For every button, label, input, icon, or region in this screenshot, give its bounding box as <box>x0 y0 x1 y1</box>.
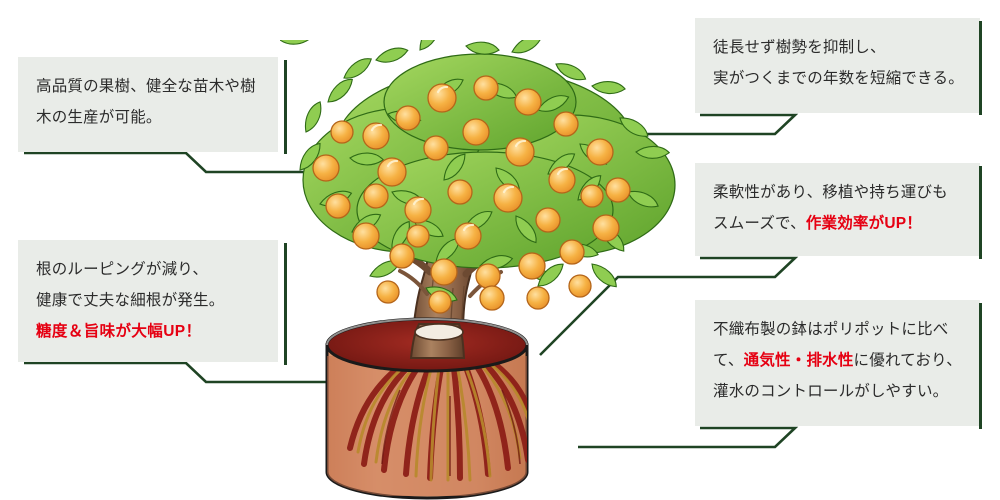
callout-accent-bar <box>979 303 982 429</box>
callout-line: 根のルーピングが減り、 <box>36 254 260 285</box>
callout-line: 柔軟性があり、移植や持ち運びも <box>713 177 962 208</box>
callout-accent-bar <box>979 166 982 259</box>
callout-line: 健康で丈夫な細根が発生。 <box>36 285 260 316</box>
root-mass <box>327 352 538 496</box>
callout-growth-control: 徒長せず樹勢を抑制し、 実がつくまでの年数を短縮できる。 <box>695 18 980 113</box>
callout-line: 実がつくまでの年数を短縮できる。 <box>713 63 962 94</box>
callout-root-looping: 根のルーピングが減り、 健康で丈夫な細根が発生。 糖度＆旨味が大幅UP！ <box>18 240 278 362</box>
tree-canopy <box>280 40 675 313</box>
callout-text: スムーズで、 <box>713 215 806 232</box>
callout-accent-bar <box>284 60 287 154</box>
callout-text-highlight: 通気性・排水性 <box>744 352 854 369</box>
callout-text: て、 <box>713 352 744 369</box>
callout-text-highlight: 作業効率がUP！ <box>806 215 922 232</box>
infographic-canvas: 高品質の果樹、健全な苗木や樹 木の生産が可能。 根のルーピングが減り、 健康で丈… <box>0 0 1000 500</box>
callout-line: スムーズで、作業効率がUP！ <box>713 208 962 239</box>
callout-text: に優れており、 <box>854 352 962 369</box>
callout-accent-bar <box>979 21 982 115</box>
callout-line: 高品質の果樹、健全な苗木や樹 <box>36 71 260 102</box>
callout-accent-bar <box>284 243 287 365</box>
callout-high-quality-production: 高品質の果樹、健全な苗木や樹 木の生産が可能。 <box>18 57 278 152</box>
callout-line: 徒長せず樹勢を抑制し、 <box>713 32 962 63</box>
callout-line-highlight: 糖度＆旨味が大幅UP！ <box>36 316 260 347</box>
callout-fabric-pot-aeration: 不織布製の鉢はポリポットに比べ て、通気性・排水性に優れており、 灌水のコントロ… <box>695 300 980 426</box>
callout-flexible-handling: 柔軟性があり、移植や持ち運びも スムーズで、作業効率がUP！ <box>695 163 980 256</box>
callout-line: 木の生産が可能。 <box>36 102 260 133</box>
fabric-pot-root-ball <box>327 319 538 498</box>
callout-line: 不織布製の鉢はポリポットに比べ <box>713 314 962 345</box>
callout-line: 灌水のコントロールがしやすい。 <box>713 376 962 407</box>
callout-line: て、通気性・排水性に優れており、 <box>713 345 962 376</box>
citrus-tree-illustration <box>280 40 700 500</box>
